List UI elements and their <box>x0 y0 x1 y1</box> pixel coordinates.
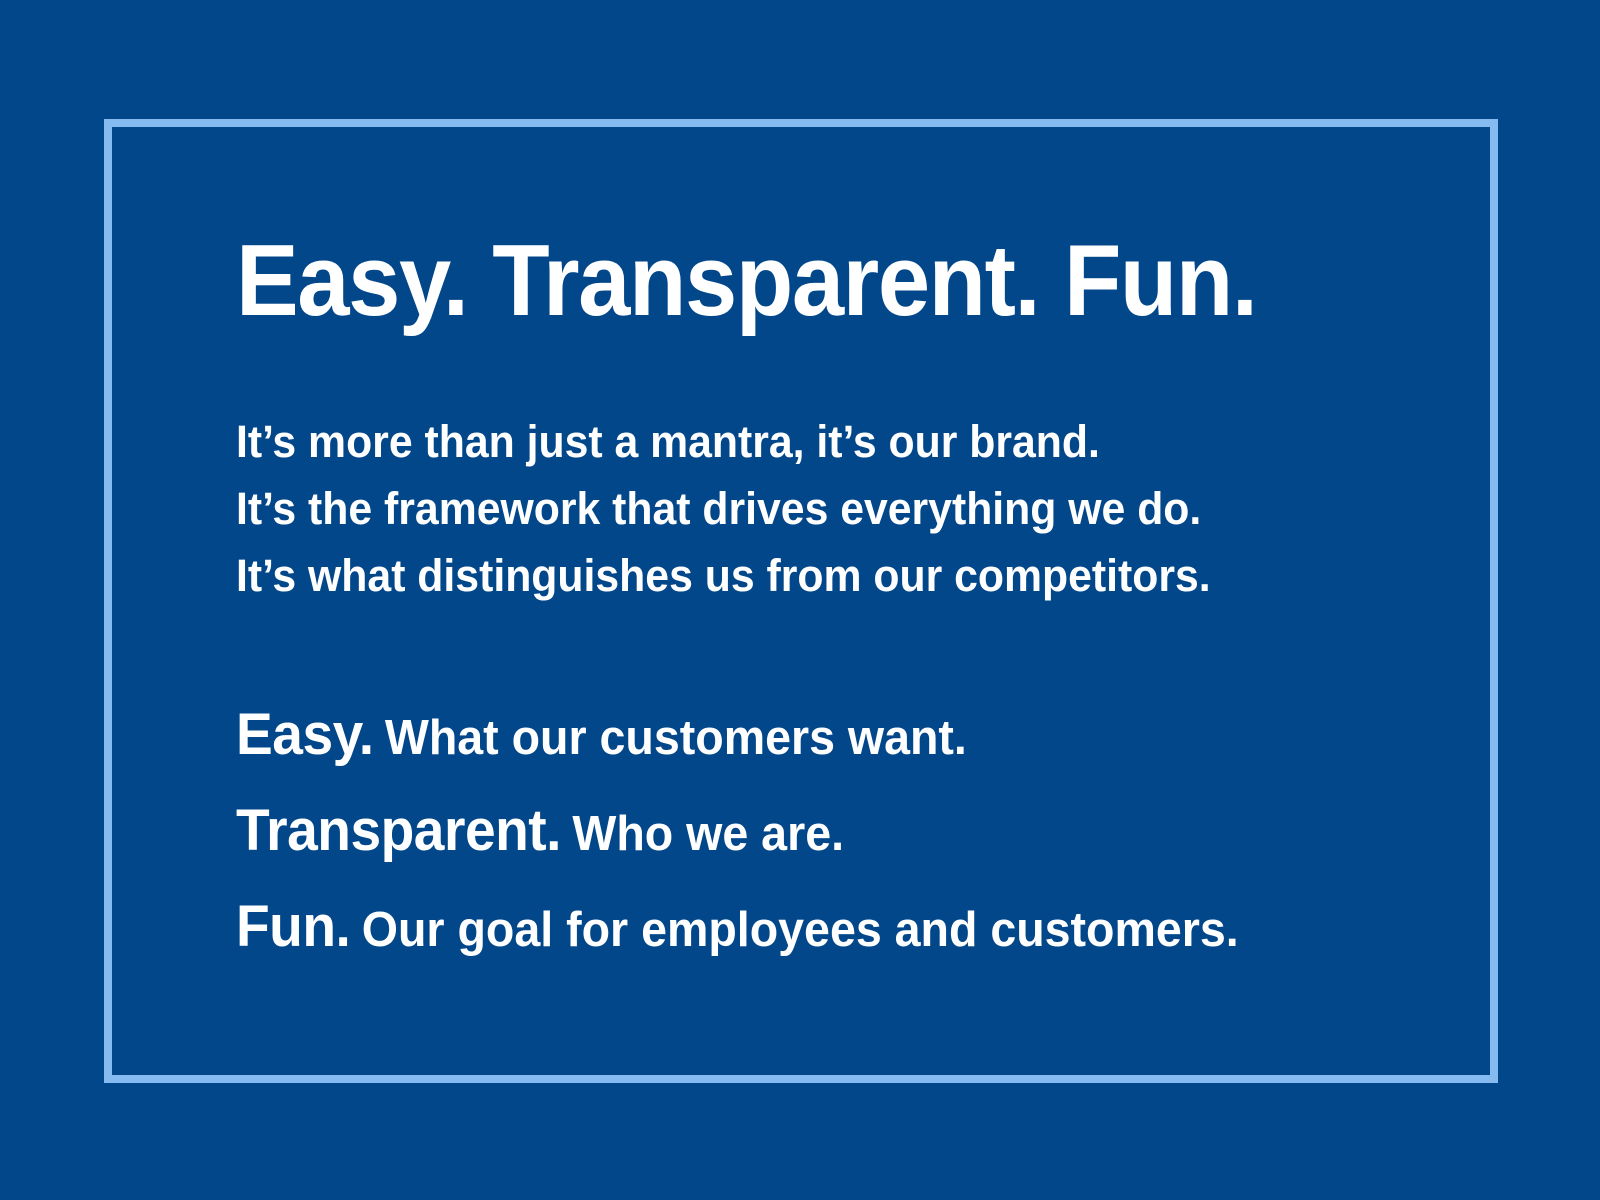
pillar-keyword-fun: Fun. <box>236 894 350 959</box>
pillar-description-easy: What our customers want. <box>385 711 967 765</box>
intro-line-1: It’s more than just a mantra, it’s our b… <box>236 408 1367 475</box>
page-title: Easy. Transparent. Fun. <box>236 231 1257 332</box>
pillar-description-fun: Our goal for employees and customers. <box>362 903 1239 957</box>
pillar-item-transparent: Transparent.Who we are. <box>236 790 1367 886</box>
slide-canvas: Easy. Transparent. Fun. It’s more than j… <box>0 0 1600 1200</box>
slide-content: Easy. Transparent. Fun. It’s more than j… <box>236 119 1416 1083</box>
pillar-description-transparent: Who we are. <box>572 807 844 861</box>
pillar-list: Easy.What our customers want. Transparen… <box>236 694 1426 982</box>
pillar-keyword-easy: Easy. <box>236 702 374 767</box>
pillar-item-fun: Fun.Our goal for employees and customers… <box>236 886 1367 982</box>
pillar-item-easy: Easy.What our customers want. <box>236 694 1367 790</box>
intro-line-3: It’s what distinguishes us from our comp… <box>236 542 1367 609</box>
intro-paragraph: It’s more than just a mantra, it’s our b… <box>236 408 1426 609</box>
intro-line-2: It’s the framework that drives everythin… <box>236 475 1367 542</box>
pillar-keyword-transparent: Transparent. <box>236 798 561 863</box>
